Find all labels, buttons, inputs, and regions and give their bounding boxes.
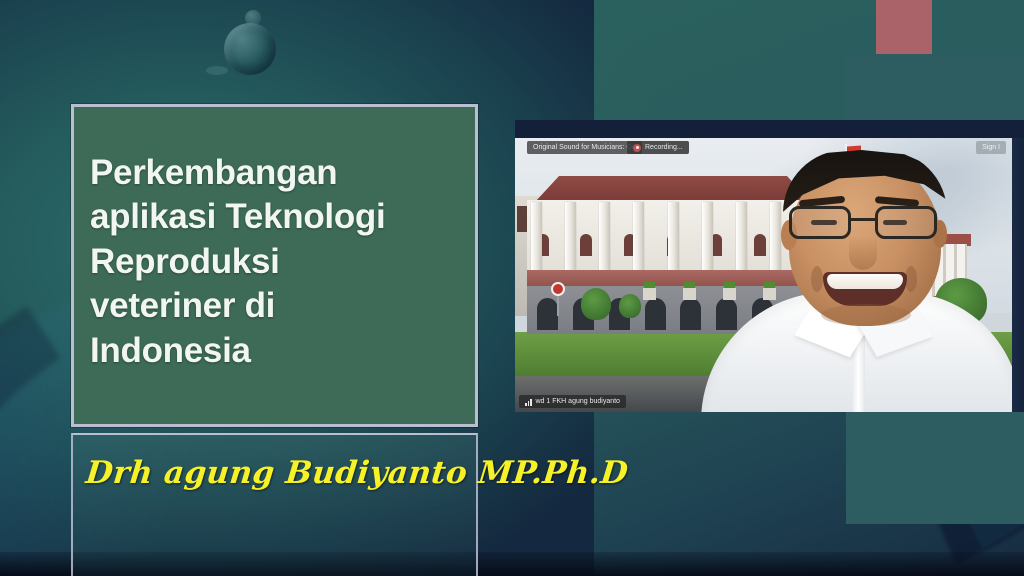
original-sound-label: Original Sound for Musicians: On <box>533 141 636 154</box>
presenter-name: Drh agung Budiyanto MP.Ph.D <box>84 455 630 491</box>
water-droplet-tail-icon <box>206 66 228 75</box>
participant-video-person <box>711 144 1011 412</box>
glasses-lens-right <box>875 206 937 239</box>
glasses-lens-left <box>789 206 851 239</box>
person-teeth <box>827 274 903 289</box>
slide-title-box: Perkembangan aplikasi Teknologi Reproduk… <box>71 104 478 427</box>
video-call-panel[interactable]: Original Sound for Musicians: On Recordi… <box>515 120 1024 412</box>
slide-title-line-3: Reproduksi <box>90 240 468 284</box>
participant-name-label: wd 1 FKH agung budiyanto <box>536 395 620 408</box>
vbg-planter <box>643 288 656 300</box>
eyeglasses-icon <box>785 206 945 240</box>
signal-bars-icon <box>525 398 532 406</box>
vbg-planter <box>683 288 696 300</box>
record-dot-icon <box>633 144 641 152</box>
person-mouth <box>823 272 907 306</box>
recording-indicator[interactable]: Recording... <box>627 141 689 154</box>
slide-title-line-2: aplikasi Teknologi <box>90 195 468 239</box>
video-right-edge <box>1012 138 1024 412</box>
original-sound-indicator[interactable]: Original Sound for Musicians: On <box>527 141 642 154</box>
video-feed[interactable]: Original Sound for Musicians: On Recordi… <box>515 138 1012 412</box>
water-droplet-icon <box>224 23 276 75</box>
sign-in-button[interactable]: Sign I <box>976 141 1006 154</box>
slide-title-line-4: veteriner di <box>90 284 468 328</box>
slide-title: Perkembangan aplikasi Teknologi Reproduk… <box>90 151 468 373</box>
sign-in-label: Sign I <box>982 141 1000 154</box>
accent-rectangle <box>876 0 932 54</box>
slide-title-line-5: Indonesia <box>90 329 468 373</box>
water-droplet-cap-icon <box>245 10 261 26</box>
video-topbar <box>515 120 1024 138</box>
vbg-tree <box>581 288 611 320</box>
screen-root: Indonesia veteriner di Drh agung Budiyan… <box>0 0 1024 576</box>
participant-name-badge: wd 1 FKH agung budiyanto <box>519 395 626 408</box>
person-smile-line-left <box>811 266 823 292</box>
vbg-tree <box>619 294 641 318</box>
glasses-bridge <box>851 218 877 221</box>
recording-label: Recording... <box>645 141 683 154</box>
person-nose <box>849 236 877 270</box>
person-chin-shadow <box>821 304 911 326</box>
vbg-road-sign-icon <box>551 282 565 296</box>
slide-title-line-1: Perkembangan <box>90 151 468 195</box>
